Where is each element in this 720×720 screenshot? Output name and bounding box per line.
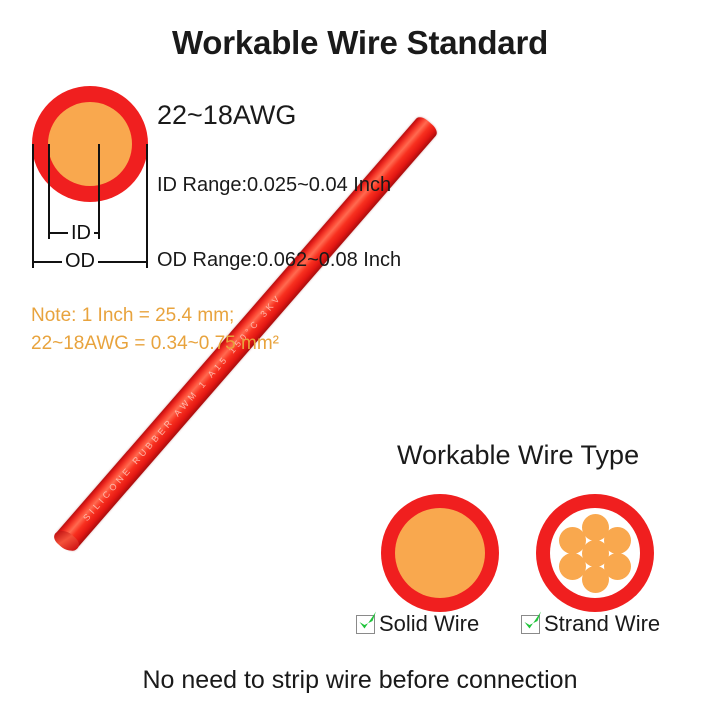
page-title: Workable Wire Standard (0, 24, 720, 62)
awg-spec: 22~18AWG (157, 100, 296, 131)
strand-wire-label: Strand Wire (544, 611, 660, 637)
strand-core (559, 527, 586, 554)
strand-core (559, 553, 586, 580)
id-dimension-label: ID (68, 222, 94, 245)
strand-wire-icon (536, 494, 654, 612)
wire-standard-infographic: Workable Wire Standard ID OD SILICONE R (0, 0, 720, 720)
conductor-core (48, 102, 132, 186)
wire-cut-end (50, 528, 84, 554)
od-range-spec: OD Range:0.062~0.08 Inch (157, 249, 401, 272)
checkbox-checked-icon[interactable] (521, 615, 540, 634)
note-line-1: Note: 1 Inch = 25.4 mm; (31, 302, 279, 330)
strand-core (604, 527, 631, 554)
note-line-2: 22~18AWG = 0.34~0.75 mm² (31, 330, 279, 358)
solid-wire-icon (381, 494, 499, 612)
strand-wire-option[interactable]: Strand Wire (521, 611, 660, 637)
cross-section-diagram (32, 86, 148, 202)
checkbox-checked-icon[interactable] (356, 615, 375, 634)
id-range-spec: ID Range:0.025~0.04 Inch (157, 174, 391, 197)
solid-conductor-core (395, 508, 485, 598)
od-dimension-label: OD (62, 250, 98, 273)
wire-type-heading: Workable Wire Type (397, 440, 639, 471)
footer-note: No need to strip wire before connection (0, 666, 720, 695)
solid-wire-label: Solid Wire (379, 611, 479, 637)
solid-wire-option[interactable]: Solid Wire (356, 611, 479, 637)
unit-conversion-note: Note: 1 Inch = 25.4 mm; 22~18AWG = 0.34~… (31, 302, 279, 357)
